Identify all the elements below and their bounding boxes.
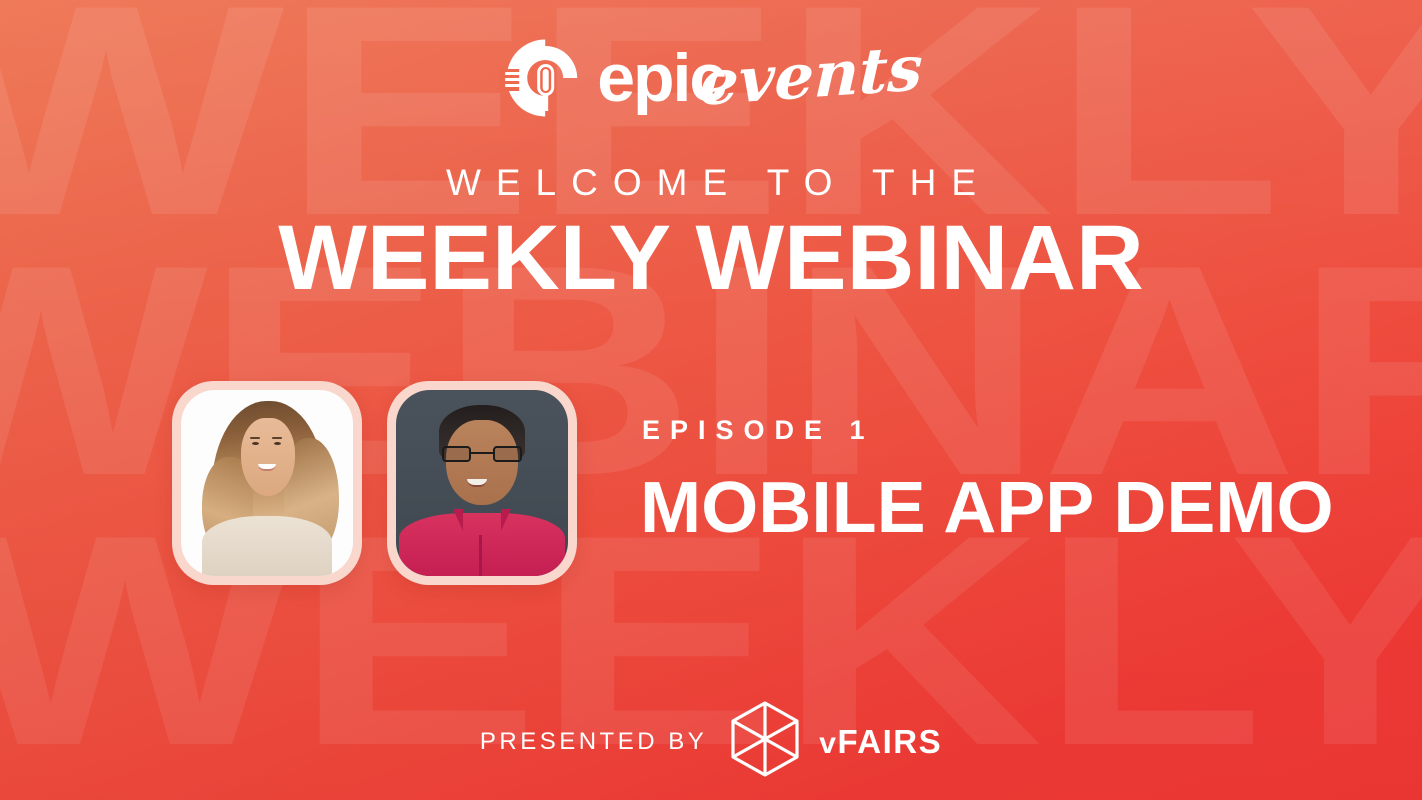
speaker-photo-1 bbox=[181, 390, 353, 576]
vfairs-wordmark: vFAIRS bbox=[819, 723, 942, 761]
epic-events-logo: epic events bbox=[499, 38, 923, 118]
presented-by-label: PRESENTED BY bbox=[480, 728, 707, 756]
vfairs-v: v bbox=[819, 727, 837, 760]
eyeglasses-icon bbox=[442, 446, 521, 462]
speaker-card-1 bbox=[172, 381, 362, 585]
logo-wordmark: epic events bbox=[597, 44, 923, 112]
footer: PRESENTED BY vFAIRS bbox=[0, 700, 1422, 783]
logo-text-events: events bbox=[698, 37, 923, 115]
speaker-card-2 bbox=[387, 381, 577, 585]
vfairs-fairs: FAIRS bbox=[837, 723, 942, 760]
speaker-photo-2 bbox=[396, 390, 568, 576]
episode-label: EPISODE 1 bbox=[642, 415, 875, 446]
speaker-photos bbox=[172, 381, 577, 585]
page-title: WEEKLY WEBINAR bbox=[0, 212, 1422, 304]
webinar-title-slide: WEEKLY WEBINAR WEEKLY bbox=[0, 0, 1422, 800]
vfairs-logo: vFAIRS bbox=[729, 700, 942, 783]
session-topic: MOBILE APP DEMO bbox=[640, 472, 1334, 544]
eyebrow-text: WELCOME TO THE bbox=[0, 162, 1422, 204]
vfairs-hexagon-icon bbox=[729, 700, 801, 783]
microphone-circle-icon bbox=[499, 38, 591, 118]
